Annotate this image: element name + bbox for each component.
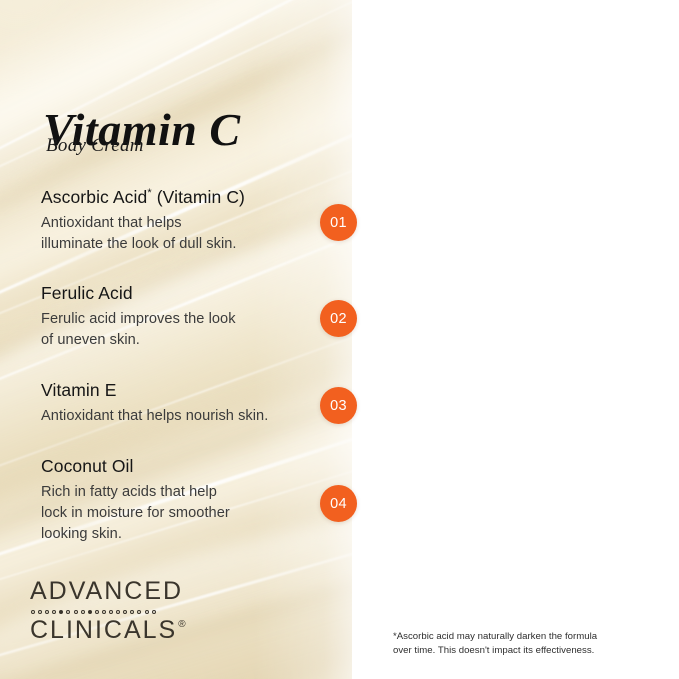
registered-trademark-icon: ®: [178, 620, 185, 630]
ingredient-badge-03: 03: [320, 387, 357, 424]
footnote-disclaimer: *Ascorbic acid may naturally darken the …: [393, 630, 655, 657]
ingredient-title-text-01: Ascorbic Acid: [41, 187, 147, 207]
content-panel: [352, 0, 679, 679]
logo-dot-hollow: [116, 610, 120, 614]
logo-dot-hollow: [95, 610, 99, 614]
brand-logo-line1: ADVANCED: [30, 579, 186, 604]
ingredient-description-04: Rich in fatty acids that help lock in mo…: [41, 482, 311, 545]
logo-dot-filled: [59, 610, 63, 614]
logo-dot-hollow: [31, 610, 35, 614]
logo-dot-hollow: [152, 610, 156, 614]
product-subtitle: Body Cream: [46, 136, 144, 155]
ingredient-title-text-02: Ferulic Acid: [41, 283, 133, 303]
ingredient-description-01: Antioxidant that helps illuminate the lo…: [41, 213, 311, 255]
ingredient-title-04: Coconut Oil: [41, 457, 311, 477]
logo-dot-hollow: [102, 610, 106, 614]
ingredient-item-01: Ascorbic Acid* (Vitamin C) Antioxidant t…: [41, 188, 311, 255]
ingredient-title-03: Vitamin E: [41, 381, 311, 401]
ingredient-title-text-04: Coconut Oil: [41, 456, 134, 476]
brand-logo: ADVANCED CLINICALS ®: [30, 579, 186, 643]
logo-dot-hollow: [74, 610, 78, 614]
ingredient-description-02: Ferulic acid improves the look of uneven…: [41, 309, 311, 351]
logo-dot-hollow: [81, 610, 85, 614]
logo-dot-hollow: [45, 610, 49, 614]
brand-logo-line2: CLINICALS: [30, 618, 177, 643]
brand-logo-line2-row: CLINICALS ®: [30, 618, 186, 643]
ingredient-title-suffix-01: (Vitamin C): [152, 187, 245, 207]
logo-dot-hollow: [109, 610, 113, 614]
product-infographic: ADVANCED CLINICALS ® Vitamin C Body Crea…: [0, 0, 679, 679]
ingredient-badge-04: 04: [320, 485, 357, 522]
ingredient-item-04: Coconut Oil Rich in fatty acids that hel…: [41, 457, 311, 545]
logo-dot-hollow: [38, 610, 42, 614]
ingredient-badge-02: 02: [320, 300, 357, 337]
ingredient-title-01: Ascorbic Acid* (Vitamin C): [41, 188, 311, 208]
ingredient-description-03: Antioxidant that helps nourish skin.: [41, 406, 311, 427]
logo-dot-hollow: [52, 610, 56, 614]
ingredient-item-03: Vitamin E Antioxidant that helps nourish…: [41, 381, 311, 427]
logo-dot-filled: [88, 610, 92, 614]
ingredient-title-02: Ferulic Acid: [41, 284, 311, 304]
ingredient-title-text-03: Vitamin E: [41, 380, 116, 400]
logo-dot-hollow: [145, 610, 149, 614]
ingredient-item-02: Ferulic Acid Ferulic acid improves the l…: [41, 284, 311, 351]
logo-dot-hollow: [66, 610, 70, 614]
ingredient-badge-01: 01: [320, 204, 357, 241]
logo-dot-hollow: [123, 610, 127, 614]
logo-dot-hollow: [137, 610, 141, 614]
logo-dot-hollow: [130, 610, 134, 614]
